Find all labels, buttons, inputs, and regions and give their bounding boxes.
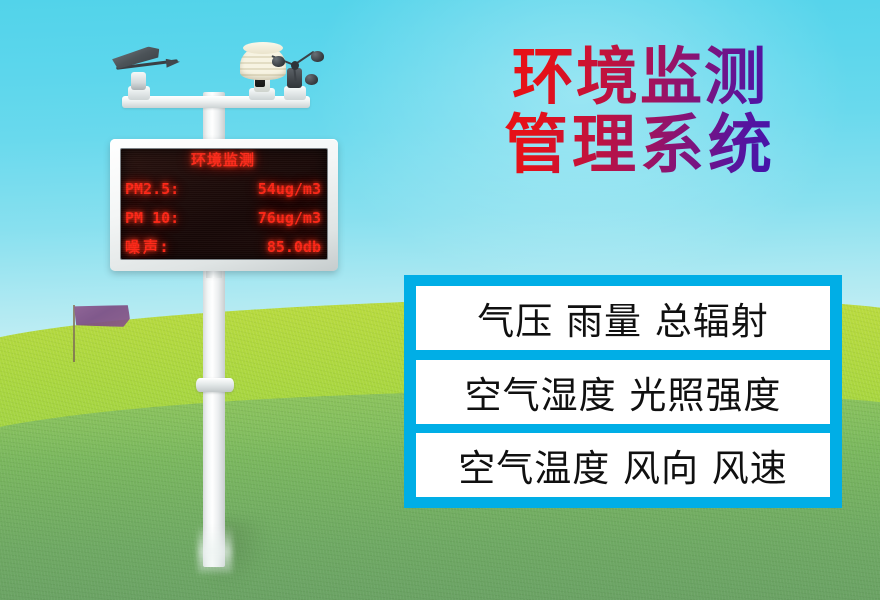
anemometer-cup-icon	[311, 51, 324, 62]
led-value-pm25: 54ug/m3	[258, 182, 321, 197]
led-row-pm25: PM2.5: 54ug/m3	[125, 182, 321, 197]
page-title-line1: 环境监测	[440, 42, 840, 111]
led-label-noise: 噪声:	[125, 240, 170, 255]
anemometer-mount	[284, 86, 306, 100]
flag-cloth-icon	[74, 305, 130, 327]
feature-panel: 气压 雨量 总辐射 空气湿度 光照强度 空气温度 风向 风速	[404, 275, 842, 508]
feature-row-2[interactable]: 空气湿度 光照强度	[416, 360, 830, 424]
anemometer-cup-icon	[305, 74, 318, 85]
pole-base-highlight	[198, 525, 232, 573]
led-label-pm10: PM 10:	[125, 211, 179, 226]
led-display-screen: 环境监测 PM2.5: 54ug/m3 PM 10: 76ug/m3 噪声: 8…	[120, 148, 328, 260]
sensor-crossbar	[122, 96, 310, 108]
flag-pole	[73, 305, 75, 362]
anemometer-cup-icon	[272, 56, 285, 67]
page-title: 环境监测 管理系统	[440, 42, 840, 183]
led-value-pm10: 76ug/m3	[258, 211, 321, 226]
led-display-board: 环境监测 PM2.5: 54ug/m3 PM 10: 76ug/m3 噪声: 8…	[110, 139, 338, 271]
led-row-noise: 噪声: 85.0db	[125, 240, 321, 255]
radiation-shield-cap	[243, 42, 283, 54]
wind-vane-body	[131, 72, 146, 90]
led-value-noise: 85.0db	[267, 240, 321, 255]
led-row-pm10: PM 10: 76ug/m3	[125, 211, 321, 226]
anemometer-hub	[291, 61, 299, 70]
led-label-pm25: PM2.5:	[125, 182, 179, 197]
feature-row-1[interactable]: 气压 雨量 总辐射	[416, 286, 830, 350]
pole-collar-clamp	[196, 378, 234, 392]
feature-row-3[interactable]: 空气温度 风向 风速	[416, 433, 830, 497]
led-display-title: 环境监测	[125, 153, 321, 168]
page-title-line2: 管理系统	[440, 111, 840, 183]
